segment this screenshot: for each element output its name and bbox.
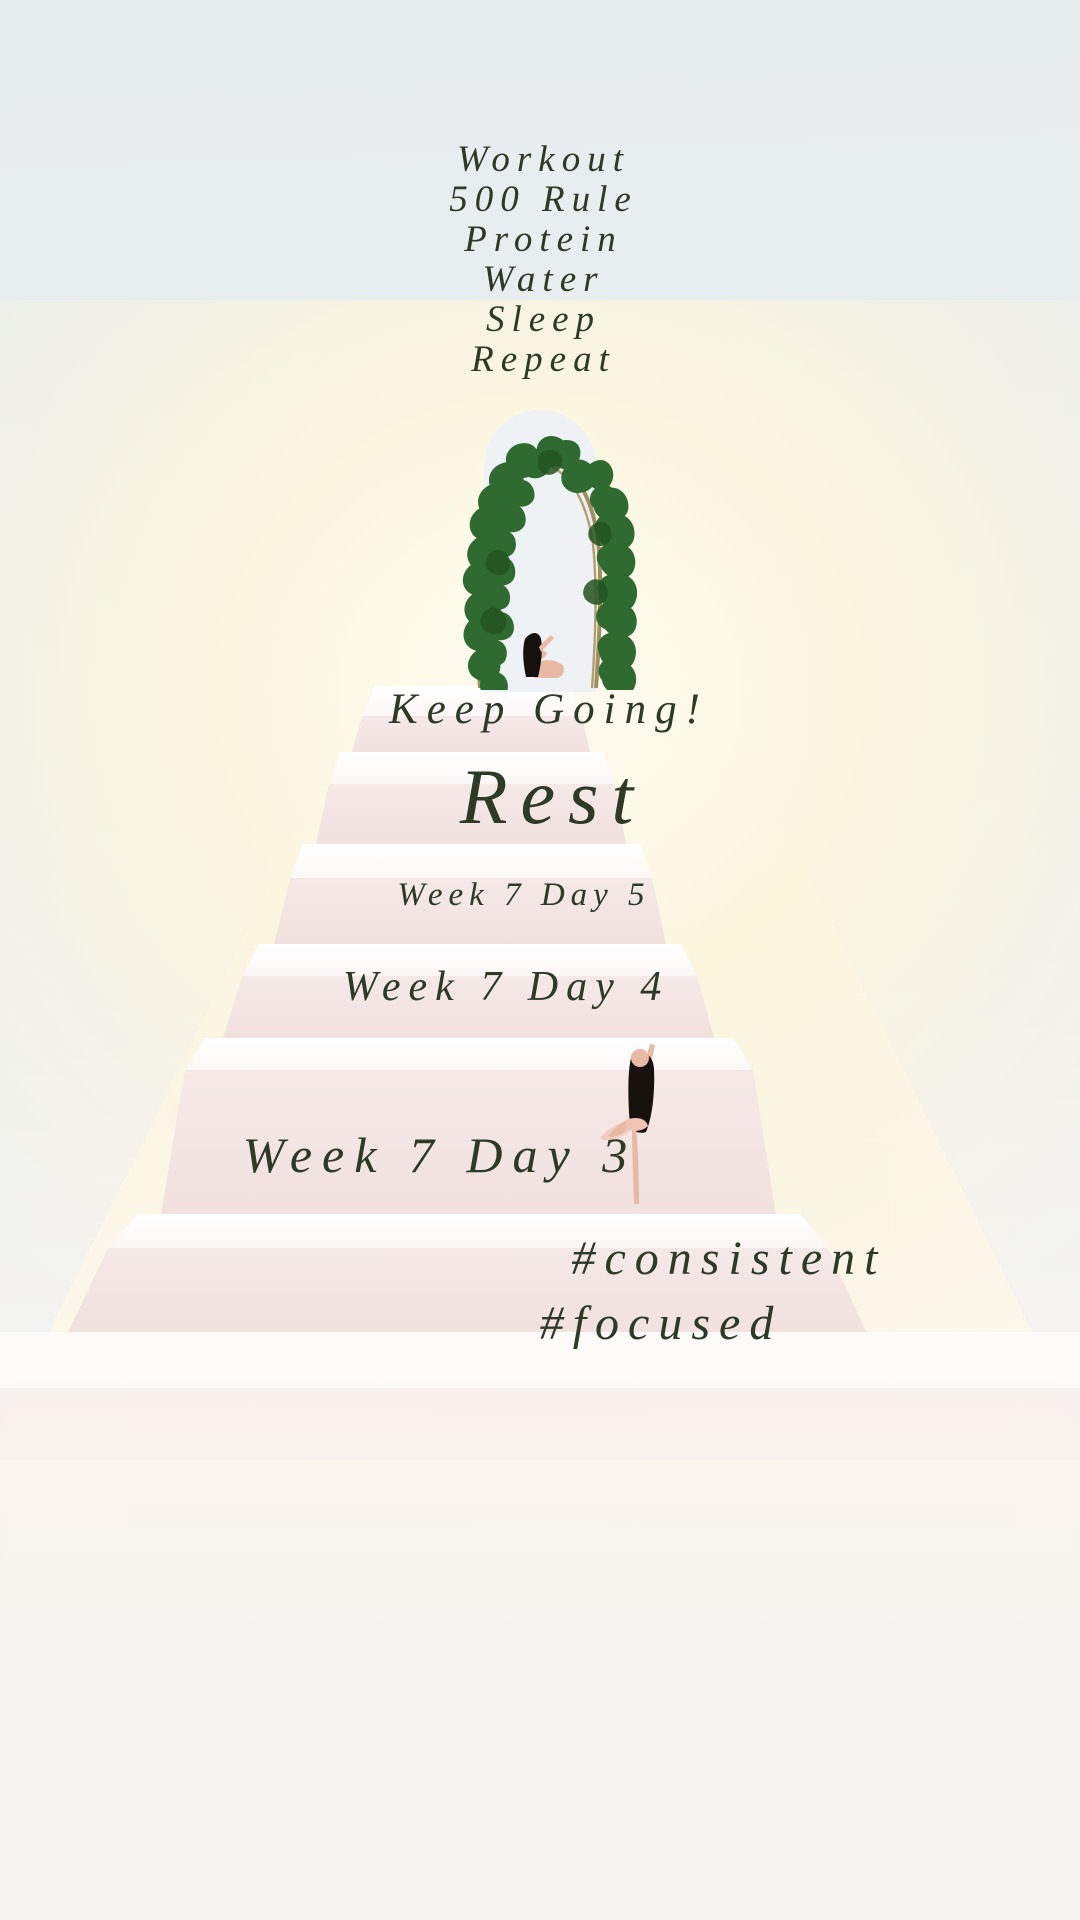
checklist-item-protein: Protein [0,220,1080,260]
habit-checklist: Workout 500 Rule Protein Water Sleep Rep… [0,140,1080,380]
checklist-item-workout: Workout [0,140,1080,180]
checklist-item-sleep: Sleep [0,300,1080,340]
week-7-day-5-label: Week 7 Day 5 [0,879,1064,912]
hashtag-focused: #focused [112,1300,1080,1348]
week-7-day-4-label: Week 7 Day 4 [0,966,1046,1008]
week-7-day-3-label: Week 7 Day 3 [0,1130,980,1180]
rest-label: Rest [0,758,1080,836]
checklist-item-repeat: Repeat [0,340,1080,380]
story-poster: Workout 500 Rule Protein Water Sleep Rep… [0,0,1080,1920]
checklist-item-water: Water [0,260,1080,300]
seated-person-icon [505,625,575,683]
hashtag-consistent: #consistent [180,1235,1080,1283]
keep-going-label: Keep Going! [0,688,1080,731]
checklist-item-500-rule: 500 Rule [0,180,1080,220]
bottom-wash [0,1360,1080,1920]
ballerina-dancer-icon [592,1036,678,1212]
